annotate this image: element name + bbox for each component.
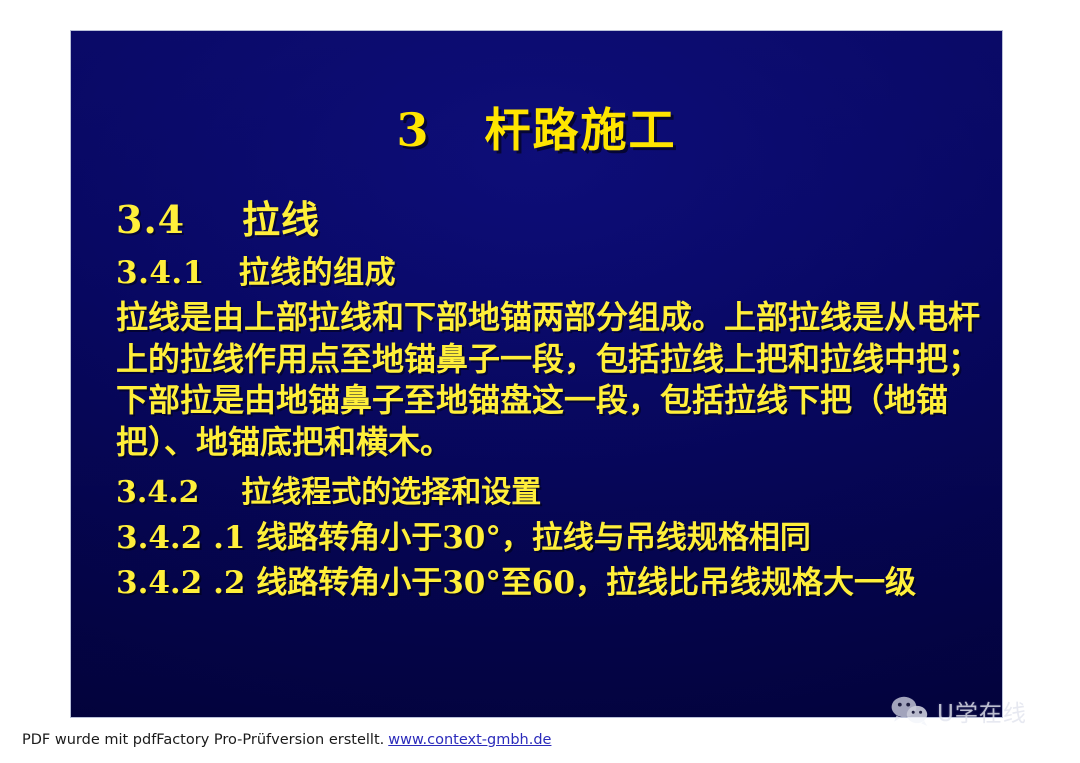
heading-3-4-2: 3.4.2 拉线程式的选择和设置 bbox=[116, 473, 984, 512]
heading-3-4: 3.4 拉线 bbox=[116, 196, 984, 245]
slide-body: 3.4 拉线 3.4.1 拉线的组成 拉线是由上部拉线和下部地锚两部分组成。上部… bbox=[116, 196, 984, 604]
heading-3-4-1: 3.4.1 拉线的组成 bbox=[116, 253, 984, 293]
footer-link[interactable]: www.context-gmbh.de bbox=[388, 732, 551, 748]
pdf-footer: PDF wurde mit pdfFactory Pro-Prüfversion… bbox=[22, 732, 551, 748]
presentation-slide: 3 杆路施工 3.4 拉线 3.4.1 拉线的组成 拉线是由上部拉线和下部地锚两… bbox=[70, 30, 1003, 718]
slide-content: 3 杆路施工 3.4 拉线 3.4.1 拉线的组成 拉线是由上部拉线和下部地锚两… bbox=[71, 31, 1002, 717]
paragraph-3-4-1: 拉线是由上部拉线和下部地锚两部分组成。上部拉线是从电杆上的拉线作用点至地锚鼻子一… bbox=[116, 297, 984, 463]
footer-text: PDF wurde mit pdfFactory Pro-Prüfversion… bbox=[22, 732, 384, 748]
item-3-4-2-2: 3.4.2 .2 线路转角小于30°至60，拉线比吊线规格大一级 bbox=[116, 563, 984, 604]
slide-title: 3 杆路施工 bbox=[71, 94, 1002, 160]
item-3-4-2-1: 3.4.2 .1 线路转角小于30°，拉线与吊线规格相同 bbox=[116, 518, 984, 559]
